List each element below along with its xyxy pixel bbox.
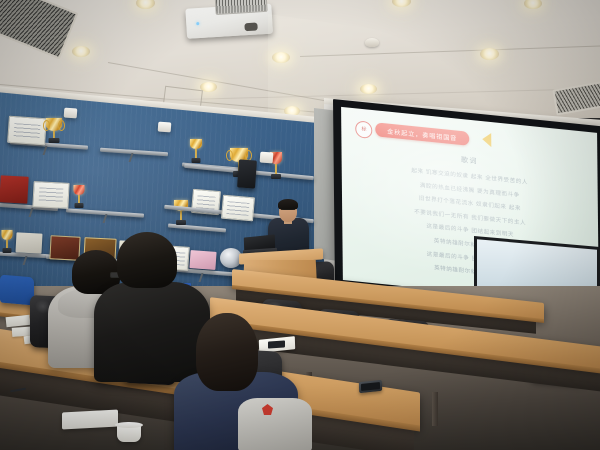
framed-certificate — [32, 181, 69, 209]
table-leg — [432, 392, 438, 426]
trophy-handle — [226, 150, 233, 161]
jacket-sleeve — [238, 398, 312, 450]
trophy-base — [192, 158, 201, 163]
projector-lens — [244, 22, 257, 31]
trophy — [44, 118, 64, 144]
trophy-stem — [195, 149, 197, 158]
conference-room-photo: 标 金秋起立，奏唱祖国音 歌词 起来 饥寒交迫的奴隶 起来 全世界受苦的人 满腔… — [0, 0, 600, 450]
trophy-base — [176, 220, 186, 225]
audience-member-black-shirt — [94, 282, 210, 382]
trophy — [0, 230, 14, 254]
recessed-downlight — [480, 48, 499, 60]
trophy-base — [49, 138, 60, 143]
recessed-downlight — [272, 52, 290, 63]
award-plaque — [0, 175, 29, 203]
ceiling-projector — [185, 0, 279, 41]
framed-certificate — [221, 195, 255, 222]
trophy-cup — [74, 185, 85, 195]
trophy-base — [75, 203, 84, 208]
trophy-stem — [275, 164, 277, 174]
wall-mounted-light — [260, 152, 274, 164]
award-plaque — [49, 235, 80, 261]
trophy-stem — [180, 211, 182, 220]
certificate-text-lines — [227, 201, 250, 216]
projector-status-led — [196, 22, 199, 25]
trophy-cup — [2, 230, 13, 240]
notebook-cover — [268, 340, 285, 348]
wall-speaker — [237, 159, 257, 188]
trophy-base — [271, 174, 281, 179]
wall-mounted-light — [158, 122, 172, 133]
trophy — [172, 200, 190, 228]
framed-certificate — [7, 116, 47, 146]
smoke-detector — [365, 38, 379, 47]
trophy-base — [3, 248, 12, 253]
paper-cup-rim — [115, 422, 143, 428]
award-plaque — [189, 250, 216, 270]
certificate-text-lines — [38, 188, 63, 204]
trophy-stem — [78, 195, 80, 203]
tissue-box — [62, 410, 118, 430]
audience-head-c — [196, 313, 258, 391]
eyeglasses — [281, 209, 295, 213]
trophy-handle — [58, 120, 65, 131]
blue-stacking-chair — [0, 275, 34, 306]
certificate-text-lines — [13, 123, 40, 140]
wall-mounted-light — [64, 108, 78, 119]
trophy-stem — [6, 240, 8, 248]
recessed-downlight — [360, 84, 377, 94]
audience-head-b — [117, 232, 177, 288]
trophy — [72, 185, 86, 210]
award-plaque — [15, 232, 42, 253]
recessed-downlight — [72, 46, 90, 57]
trophy-stem — [53, 131, 55, 138]
trophy — [188, 139, 204, 165]
trophy-handle — [43, 120, 50, 131]
trophy-cup — [190, 139, 202, 149]
